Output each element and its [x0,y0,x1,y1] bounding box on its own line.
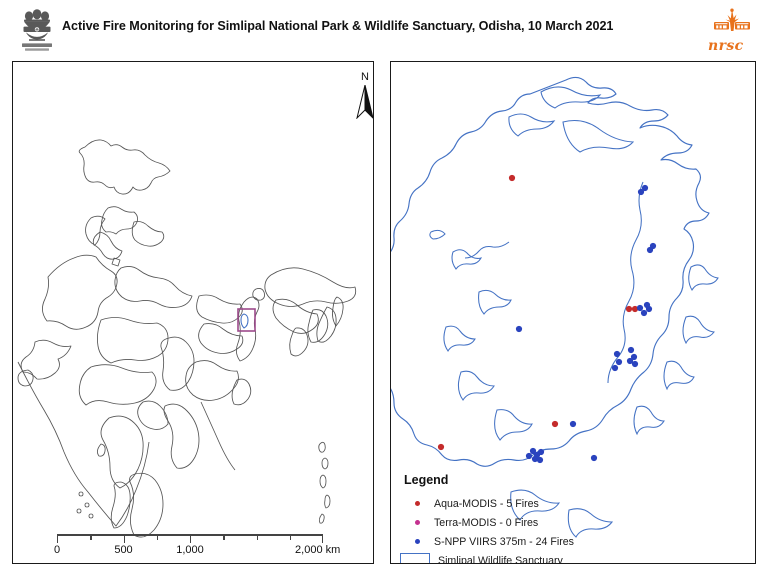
fire-point-s-npp-viirs-375m [644,302,650,308]
fire-point-s-npp-viirs-375m [526,453,532,459]
legend-title: Legend [404,473,574,487]
india-state-emblem-icon [16,5,58,57]
fire-point-s-npp-viirs-375m [537,457,543,463]
legend-item-terra-modis[interactable]: Terra-MODIS - 0 Fires [404,513,574,532]
legend-item-sanctuary[interactable]: Simlipal Wildlife Sanctuary [404,551,574,564]
fire-point-s-npp-viirs-375m [628,347,634,353]
scale-bar-india: 0 500 1,000 2,000 km [57,534,323,558]
simlipal-inset-highlight-box [13,62,373,562]
fire-point-s-npp-viirs-375m [614,351,620,357]
legend-item-label: Aqua-MODIS - 5 Fires [430,498,539,510]
simlipal-map-panel[interactable]: N 0 5 10 20 km Legend [390,61,756,564]
snpp-viirs-dot-icon [404,539,430,544]
sanctuary-boundary-swatch-icon [404,553,430,565]
fire-point-s-npp-viirs-375m [591,455,597,461]
scale-tick-label: 500 [114,544,132,556]
legend-item-label: Simlipal Wildlife Sanctuary [430,555,563,565]
fire-point-s-npp-viirs-375m [570,421,576,427]
fire-point-s-npp-viirs-375m [516,326,522,332]
scale-tick-label: 0 [54,544,60,556]
fire-point-aqua-modis [509,175,515,181]
scale-bar-india-track [57,534,323,543]
legend-item-snpp-viirs[interactable]: S-NPP VIIRS 375m - 24 Fires [404,532,574,551]
legend: Legend Aqua-MODIS - 5 Fires Terra-MODIS … [404,473,574,564]
fire-point-s-npp-viirs-375m [530,448,536,454]
fire-point-s-npp-viirs-375m [647,247,653,253]
scale-tick-label: 1,000 [176,544,204,556]
page-title: Active Fire Monitoring for Simlipal Nati… [62,19,613,33]
fire-point-s-npp-viirs-375m [641,310,647,316]
fire-point-s-npp-viirs-375m [637,305,643,311]
fire-point-s-npp-viirs-375m [616,359,622,365]
page-header: Active Fire Monitoring for Simlipal Nati… [0,0,768,58]
india-overview-map-panel[interactable]: N 0 500 1,000 2,000 km [12,61,374,564]
fire-point-s-npp-viirs-375m [638,189,644,195]
fire-point-aqua-modis [552,421,558,427]
fire-point-s-npp-viirs-375m [632,361,638,367]
north-arrow-india: N [353,72,374,118]
terra-modis-dot-icon [404,520,430,525]
legend-item-aqua-modis[interactable]: Aqua-MODIS - 5 Fires [404,494,574,513]
legend-item-label: Terra-MODIS - 0 Fires [430,517,538,529]
fire-point-s-npp-viirs-375m [538,449,544,455]
fire-point-s-npp-viirs-375m [612,365,618,371]
fire-point-aqua-modis [626,306,632,312]
aqua-modis-dot-icon [404,501,430,506]
nrsc-wordmark: nrsc [708,38,744,54]
legend-item-label: S-NPP VIIRS 375m - 24 Fires [430,536,574,548]
scale-tick-label: 2,000 km [295,544,340,556]
fire-point-aqua-modis [438,444,444,450]
